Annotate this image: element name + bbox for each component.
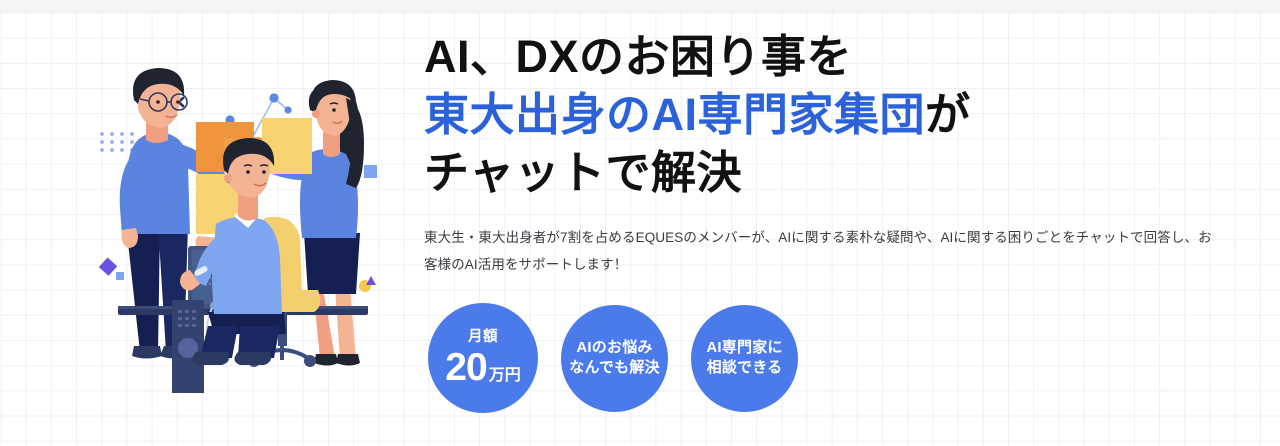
top-gray-band: [0, 0, 1280, 12]
square-decoration: [364, 165, 377, 178]
badge-ai-worries: AIのお悩み なんでも解決: [561, 305, 668, 412]
team-collaboration-illustration: [88, 58, 408, 393]
headline-line-3: チャットで解決: [424, 144, 1224, 202]
hero-section: AI、DXのお困り事を 東大出身のAI専門家集団が チャットで解決 東大生・東大…: [0, 0, 1280, 446]
badge-price-amount: 20 万円: [445, 348, 520, 388]
lead-paragraph: 東大生・東大出身者が7割を占めるEQUESのメンバーが、AIに関する素朴な疑問や…: [424, 224, 1214, 278]
headline-line-2: 東大出身のAI専門家集団が: [424, 86, 1224, 144]
dot-grid-decoration: [100, 132, 134, 152]
badge-price-number: 20: [445, 348, 486, 388]
diamond-decoration: [99, 258, 124, 280]
badge-ai-expert-line-2: 相談できる: [707, 358, 783, 378]
headline-line-2-tail: が: [925, 89, 971, 140]
badge-price-label: 月額: [468, 328, 498, 347]
badge-ai-expert-line-1: AI専門家に: [706, 338, 782, 358]
badge-monthly-price: 月額 20 万円: [428, 303, 538, 413]
badge-list: 月額 20 万円 AIのお悩み なんでも解決 AI専門家に 相談できる: [428, 303, 798, 413]
badge-ai-expert: AI専門家に 相談できる: [691, 305, 798, 412]
hero-copy: AI、DXのお困り事を 東大出身のAI専門家集団が チャットで解決 東大生・東大…: [424, 28, 1224, 278]
dot-triangle-decoration: [359, 276, 376, 292]
badge-ai-worries-line-2: なんでも解決: [569, 358, 659, 378]
headline-accent: 東大出身のAI専門家集団: [424, 89, 925, 140]
pc-tower: [172, 300, 204, 393]
badge-ai-worries-line-1: AIのお悩み: [576, 338, 652, 358]
headline-line-1: AI、DXのお困り事を: [424, 28, 1224, 86]
badge-price-unit: 万円: [489, 365, 521, 386]
page-title: AI、DXのお困り事を 東大出身のAI専門家集団が チャットで解決: [424, 28, 1224, 202]
